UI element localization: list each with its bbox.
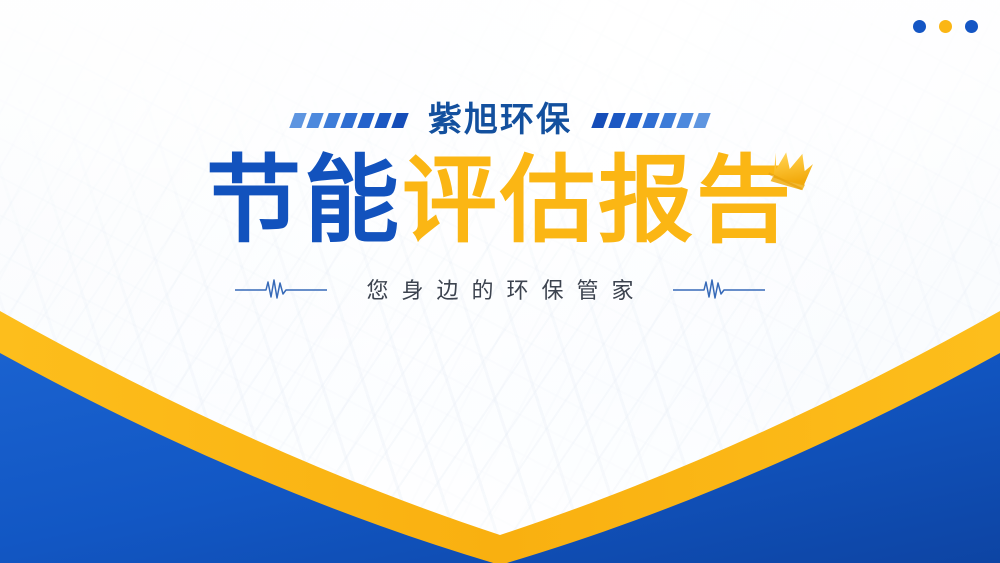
tagline-row: 您身边的环保管家 bbox=[235, 273, 764, 305]
title-part-blue: 节能 bbox=[206, 148, 402, 254]
ekg-line-icon-left bbox=[235, 276, 327, 302]
dot-yellow bbox=[939, 20, 952, 33]
slanted-dash-icon-left bbox=[292, 112, 406, 128]
dot-blue-1 bbox=[913, 20, 926, 33]
page-title: 节能评估报告 bbox=[206, 150, 794, 253]
cover-content: 紫旭环保 节能评估报告 bbox=[0, 96, 1000, 305]
corner-dots-group bbox=[913, 20, 978, 33]
brand-subtitle-row: 紫旭环保 bbox=[292, 96, 708, 144]
brand-name: 紫旭环保 bbox=[428, 103, 572, 137]
slanted-dash-icon-right bbox=[594, 112, 708, 128]
title-part-gold: 评估报告 bbox=[402, 148, 794, 254]
ekg-line-icon-right bbox=[673, 276, 765, 302]
cover-slide: 紫旭环保 节能评估报告 bbox=[0, 0, 1000, 563]
tagline-text: 您身边的环保管家 bbox=[353, 273, 646, 305]
dot-blue-2 bbox=[965, 20, 978, 33]
